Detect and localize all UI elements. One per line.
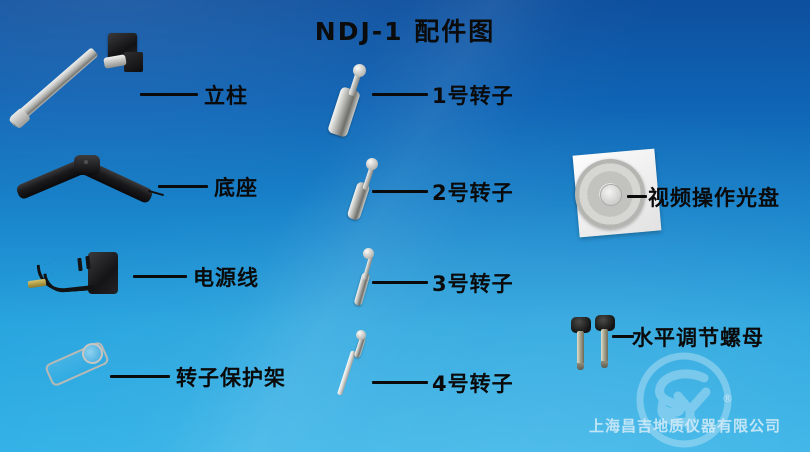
adapter-dc-plug: [28, 279, 47, 288]
leader-line-base: [158, 185, 208, 188]
leveling-nut-stem-right: [601, 329, 608, 362]
leader-line-leveling-nuts: [612, 335, 634, 338]
accessory-diagram-canvas: NDJ-1 配件图: [0, 0, 810, 452]
adapter-cable-inner: [43, 270, 93, 293]
leader-line-video-cd: [627, 195, 647, 198]
part-label-leveling-nuts: 水平调节螺母: [632, 322, 764, 352]
registered-trademark-mark: ®: [722, 392, 733, 405]
base-vertex: [74, 155, 100, 175]
part-label-rotor-2: 2号转子: [432, 177, 514, 207]
leveling-nut-tip-right: [601, 361, 608, 368]
rotor-4-head: [356, 330, 366, 340]
part-label-power-cord: 电源线: [193, 262, 259, 292]
part-label-column: 立柱: [204, 80, 248, 110]
leader-line-rotor-4: [372, 381, 428, 384]
part-label-video-cd: 视频操作光盘: [648, 182, 780, 212]
part-label-rotor-3: 3号转子: [432, 268, 514, 298]
leader-line-rotor-guard: [110, 375, 170, 378]
rotor-4-shaft: [337, 350, 356, 395]
rotor-1-head: [353, 64, 366, 77]
part-label-rotor-4: 4号转子: [432, 368, 514, 398]
part-label-base: 底座: [214, 172, 258, 202]
leader-line-rotor-2: [372, 190, 428, 193]
base-screw-hole: [84, 160, 88, 164]
rotor-2-head: [366, 158, 378, 170]
leader-line-rotor-3: [372, 281, 428, 284]
part-label-rotor-1: 1号转子: [432, 80, 514, 110]
company-name-watermark: 上海昌吉地质仪器有限公司: [560, 415, 810, 436]
part-label-rotor-guard: 转子保护架: [176, 362, 286, 392]
column-bracket-lower: [124, 52, 143, 72]
rotor-3-head: [363, 248, 374, 259]
cd-center-hole: [600, 184, 622, 206]
rotor-1-cylinder: [327, 86, 361, 138]
leveling-nut-stem-left: [577, 331, 584, 364]
leader-line-column: [140, 93, 198, 96]
leader-line-rotor-1: [372, 93, 428, 96]
leveling-nut-tip-left: [577, 363, 584, 370]
leader-line-power-cord: [133, 275, 187, 278]
